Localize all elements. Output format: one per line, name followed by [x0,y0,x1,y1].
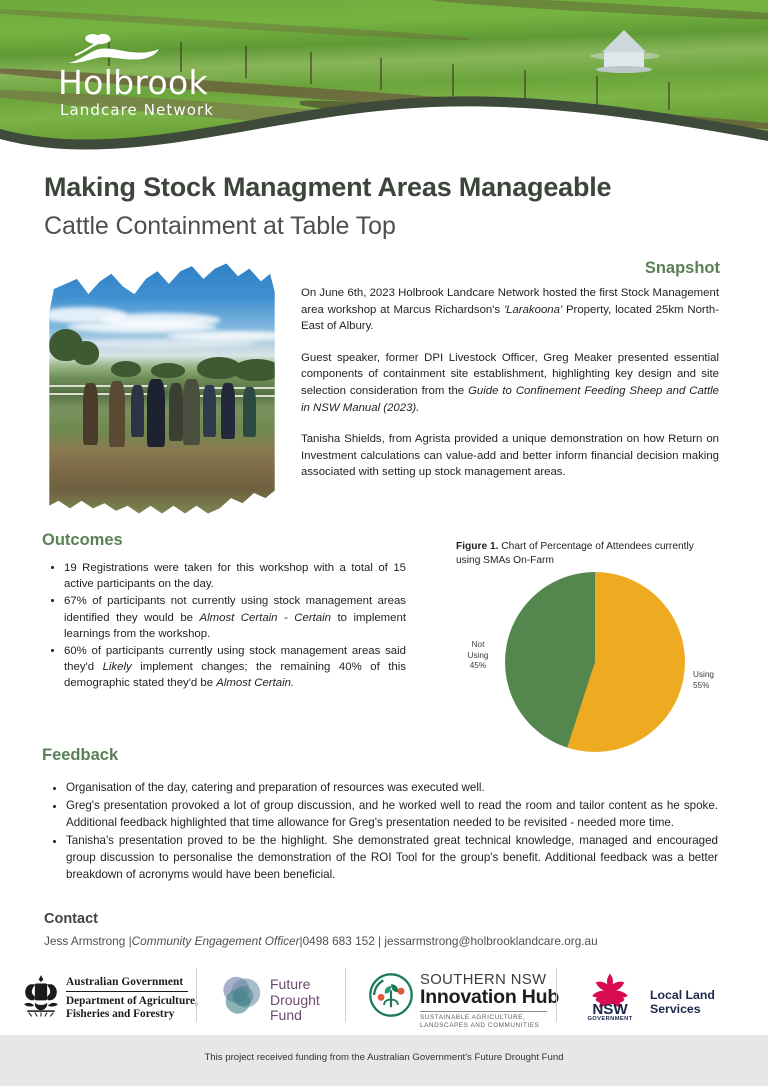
person [131,385,144,437]
aus-gov-line3: Fisheries and Forestry [66,1008,198,1022]
hub-line4: LANDSCAPES AND COMMUNITIES [420,1022,559,1030]
aus-gov-line1: Australian Government [66,976,198,988]
australian-government-text: Australian Government Department of Agri… [66,976,198,1022]
pie-label-not-using: Not Using 45% [456,640,500,672]
tree [151,363,185,378]
logo-divider [196,968,197,1022]
person [83,383,98,445]
logo-divider [345,968,346,1022]
pie-slices [505,572,685,752]
list-item: 19 Registrations were taken for this wor… [64,560,406,592]
tree [233,359,277,381]
list-item: Tanisha's presentation proved to be the … [66,832,718,883]
pie-label-value: 55% [693,681,739,692]
outcomes-list: 19 Registrations were taken for this wor… [46,560,406,693]
person [221,383,235,439]
outcome-italic-2: Almost Certain. [216,677,294,689]
contact-email[interactable]: jessarmstrong@holbrooklandcare.org.au [384,934,597,948]
hub-line3: SUSTAINABLE AGRICULTURE, [420,1014,559,1022]
holbrook-landcare-logo: Holbrook Landcare Network [58,32,258,119]
outcome-italic: Almost Certain - Certain [200,612,332,624]
person [203,385,216,437]
hill-and-tree-icon [66,32,162,66]
workshop-photo [47,261,277,516]
pie-label-line: Using [693,670,739,681]
logo-subtext: Landcare Network [60,101,258,119]
footer-note: This project received funding from the A… [0,1052,768,1063]
aus-gov-rule [66,991,188,992]
person [109,381,125,447]
partner-logo-bar: Australian Government Department of Agri… [0,960,768,1032]
contact-role: Community Engagement Officer [132,934,300,948]
workshop-photo-image [47,261,277,516]
outcome-text: 19 Registrations were taken for this wor… [64,562,406,590]
logo-divider [556,968,557,1022]
hub-line2: Innovation Hub [420,986,559,1009]
snapshot-paragraph-1: On June 6th, 2023 Holbrook Landcare Netw… [301,285,719,335]
silo-base [596,66,652,73]
local-land-services-text: Local Land Services [650,988,768,1016]
person [243,387,256,437]
snapshot-paragraph-2: Guest speaker, former DPI Livestock Offi… [301,350,719,416]
contact-heading: Contact [44,911,98,927]
page-subtitle: Cattle Containment at Table Top [44,212,396,241]
future-drought-fund-text: Future Drought Fund [270,977,320,1024]
plant-in-circle-icon [368,972,414,1018]
pie-chart: Not Using 45% Using 55% [505,572,695,762]
pie-label-using: Using 55% [693,670,739,691]
list-item: 67% of participants not currently using … [64,593,406,642]
fence-post [310,52,312,84]
logo-wordmark: Holbrook [58,66,258,101]
list-item: Greg's presentation provoked a lot of gr… [66,797,718,831]
overlapping-circles-icon [218,973,264,1019]
pie-label-line: Not [456,640,500,651]
person [147,379,165,447]
silo-roof-icon [602,30,646,52]
outcomes-heading: Outcomes [42,531,123,550]
figure-caption: Figure 1. Chart of Percentage of Attende… [456,540,718,568]
pie-label-value: 45% [456,661,500,672]
nsw-government-subtext: GOVERNMENT [587,1016,632,1021]
feedback-list: Organisation of the day, catering and pr… [46,779,718,884]
figure-label: Figure 1. [456,541,498,552]
snapshot-heading: Snapshot [645,259,720,278]
pie-label-line: Using [456,651,500,662]
feedback-heading: Feedback [42,746,118,765]
contact-details: Jess Armstrong |Community Engagement Off… [44,934,598,948]
list-item: 60% of participants currently using stoc… [64,643,406,692]
footer-bar: This project received funding from the A… [0,1035,768,1086]
person [169,383,183,441]
nsw-government-logo: NSW GOVERNMENT [578,971,642,1021]
poster-page: Holbrook Landcare Network Making Stock M… [0,0,768,1086]
snapshot-body: On June 6th, 2023 Holbrook Landcare Netw… [301,285,719,481]
fdf-line2: Drought [270,993,320,1009]
list-item: Organisation of the day, catering and pr… [66,779,718,796]
tree [111,361,141,377]
person [183,379,200,445]
hub-rule [420,1011,547,1012]
fdf-line1: Future [270,977,320,993]
contact-phone[interactable]: 0498 683 152 [303,934,375,948]
innovation-hub-text: SOUTHERN NSW Innovation Hub SUSTAINABLE … [420,972,559,1031]
header-banner: Holbrook Landcare Network [0,0,768,160]
snapshot-p1-italic: 'Larakoona' [504,304,562,316]
tree [73,341,99,365]
contact-separator: | [375,934,385,948]
fdf-line3: Fund [270,1008,320,1024]
snapshot-paragraph-3: Tanisha Shields, from Agrista provided a… [301,431,719,481]
aus-gov-line2: Department of Agriculture, [66,995,198,1009]
australian-coat-of-arms-icon [18,972,64,1018]
page-title: Making Stock Managment Areas Manageable [44,172,611,203]
contact-name: Jess Armstrong [44,934,129,948]
outcome-italic: Likely [103,661,132,673]
